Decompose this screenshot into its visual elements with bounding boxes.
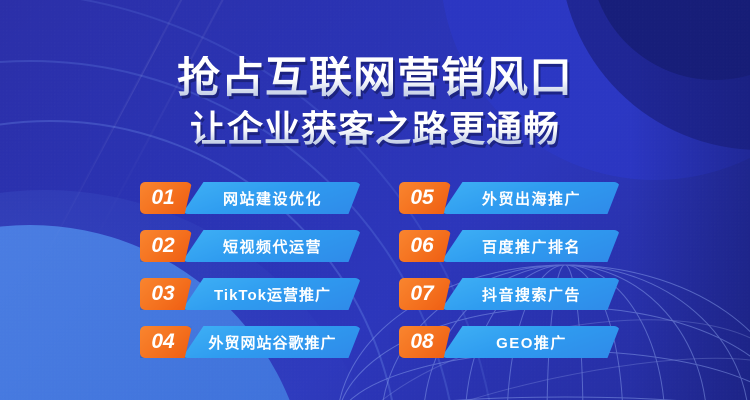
service-label: 外贸网站谷歌推广 [182,326,361,358]
service-item-01[interactable]: 01 网站建设优化 [140,176,361,220]
service-item-04[interactable]: 04 外贸网站谷歌推广 [140,320,361,364]
service-number-badge: 02 [140,230,192,262]
service-number-badge: 04 [140,326,192,358]
service-item-08[interactable]: 08 GEO推广 [399,320,620,364]
service-label: 百度推广排名 [441,230,620,262]
service-number-badge: 07 [399,278,451,310]
service-item-06[interactable]: 06 百度推广排名 [399,224,620,268]
marketing-banner: 抢占互联网营销风口 让企业获客之路更通畅 01 网站建设优化 05 外贸出海推广… [0,0,750,400]
service-item-07[interactable]: 07 抖音搜索广告 [399,272,620,316]
service-item-05[interactable]: 05 外贸出海推广 [399,176,620,220]
service-label: 抖音搜索广告 [441,278,620,310]
service-number-badge: 05 [399,182,451,214]
service-number-badge: 03 [140,278,192,310]
service-label: 外贸出海推广 [441,182,620,214]
service-label: TikTok运营推广 [182,278,361,310]
service-list: 01 网站建设优化 05 外贸出海推广 02 短视频代运营 06 百度推广排名 … [140,176,620,364]
service-item-03[interactable]: 03 TikTok运营推广 [140,272,361,316]
service-number-badge: 08 [399,326,451,358]
service-label: 短视频代运营 [182,230,361,262]
headline-primary: 抢占互联网营销风口 [0,56,750,102]
service-number-badge: 06 [399,230,451,262]
service-item-02[interactable]: 02 短视频代运营 [140,224,361,268]
service-label: GEO推广 [441,326,620,358]
headline-secondary: 让企业获客之路更通畅 [0,110,750,148]
service-number-badge: 01 [140,182,192,214]
service-label: 网站建设优化 [182,182,361,214]
headline-block: 抢占互联网营销风口 让企业获客之路更通畅 [0,56,750,148]
